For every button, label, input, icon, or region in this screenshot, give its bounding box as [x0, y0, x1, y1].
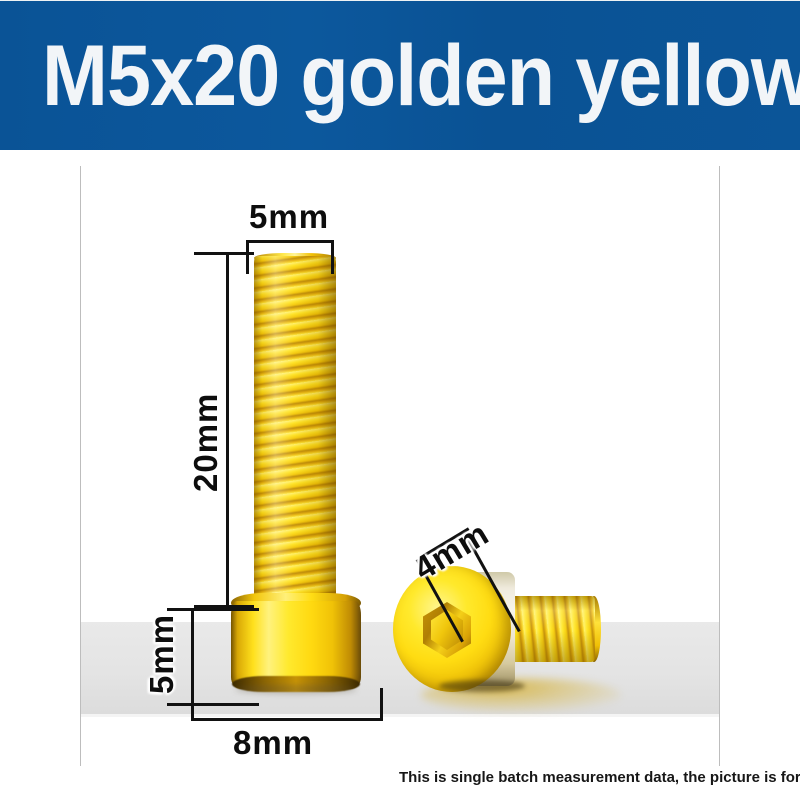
dim-label-thread-length: 20mm	[187, 393, 225, 492]
product-image-stage: M5x20 golden yellow	[0, 0, 800, 800]
dim-line-thread-length	[226, 252, 229, 608]
bolt-drop-shadow	[235, 685, 357, 694]
dim-tick-thread-diameter-left	[246, 240, 249, 274]
disclaimer-note: This is single batch measurement data, t…	[399, 769, 800, 786]
header-banner: M5x20 golden yellow	[0, 0, 800, 150]
panel-top-hairline	[0, 0, 800, 1]
page-title: M5x20 golden yellow	[42, 30, 800, 122]
dim-tick-head-height-bottom	[167, 703, 259, 706]
dim-tick-head-height-top	[167, 608, 259, 611]
product-photo-panel: 5mm 20mm 5mm 8mm 4mm	[80, 166, 720, 766]
bolt-threaded-shank	[254, 256, 336, 611]
dim-tick-thread-diameter-right	[331, 240, 334, 274]
dim-line-thread-diameter	[246, 240, 334, 243]
dim-tick-head-diameter-right	[380, 688, 383, 720]
dim-label-head-height: 5mm	[143, 614, 181, 694]
dim-label-head-diameter: 8mm	[233, 724, 313, 762]
bolt-horizontal	[381, 558, 611, 708]
dim-line-head-diameter	[191, 718, 383, 721]
dim-tick-thread-length-top	[194, 252, 254, 255]
table-surface-edge	[81, 714, 719, 717]
bolt-vertical	[231, 256, 361, 696]
dim-tick-head-diameter-left	[191, 688, 194, 720]
dim-label-thread-diameter: 5mm	[249, 198, 329, 236]
bolt-contact-shadow	[439, 680, 525, 692]
